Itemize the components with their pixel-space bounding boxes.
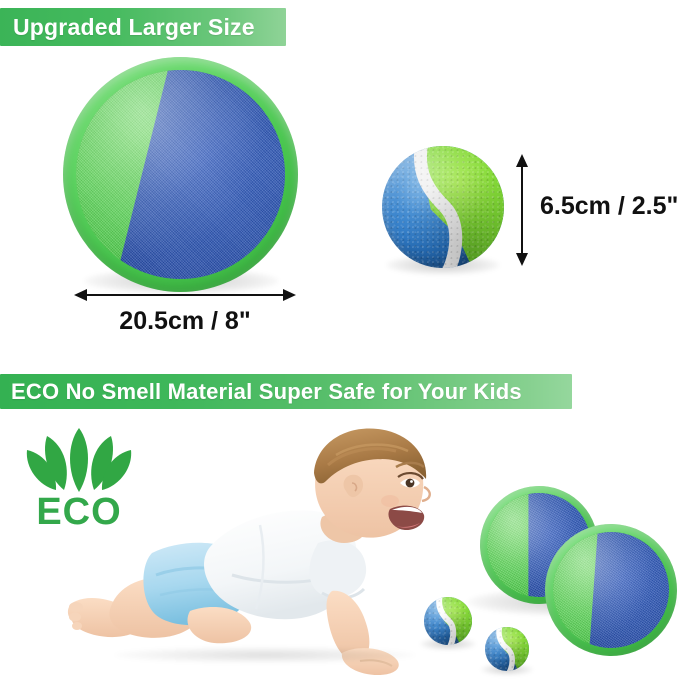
ball-secondary-2 (485, 627, 529, 671)
ball-seam-icon (485, 627, 529, 671)
ball-main (382, 146, 504, 268)
infographic-canvas: Upgraded Larger Size 20.5cm / 8" 6. (0, 0, 679, 683)
paddle-face (76, 70, 285, 279)
ball-seam-icon (424, 597, 472, 645)
paddle-dimension-arrowhead-right (283, 289, 296, 301)
ball-dimension-arrowhead-up (516, 154, 528, 167)
banner-eco-safe-label: ECO No Smell Material Super Safe for You… (11, 379, 522, 405)
ball-dimension-label: 6.5cm / 2.5" (540, 192, 678, 221)
paddle-dimension-arrowhead-left (74, 289, 87, 301)
ball-secondary-1 (424, 597, 472, 645)
ball-seam-icon (382, 146, 504, 268)
baby-illustration (60, 425, 450, 675)
banner-upgraded-size: Upgraded Larger Size (0, 8, 286, 46)
paddle-main (63, 57, 298, 292)
ball-dimension-arrowhead-down (516, 253, 528, 266)
ball-dimension-line (521, 164, 523, 256)
crawling-baby-photo (60, 425, 450, 675)
paddle-face (544, 523, 678, 657)
banner-upgraded-size-label: Upgraded Larger Size (13, 14, 255, 41)
paddle-dimension-line (82, 294, 288, 296)
baby-floor-shadow (115, 647, 415, 663)
banner-eco-safe: ECO No Smell Material Super Safe for You… (0, 374, 572, 409)
paddle-dimension-label: 20.5cm / 8" (75, 307, 295, 336)
